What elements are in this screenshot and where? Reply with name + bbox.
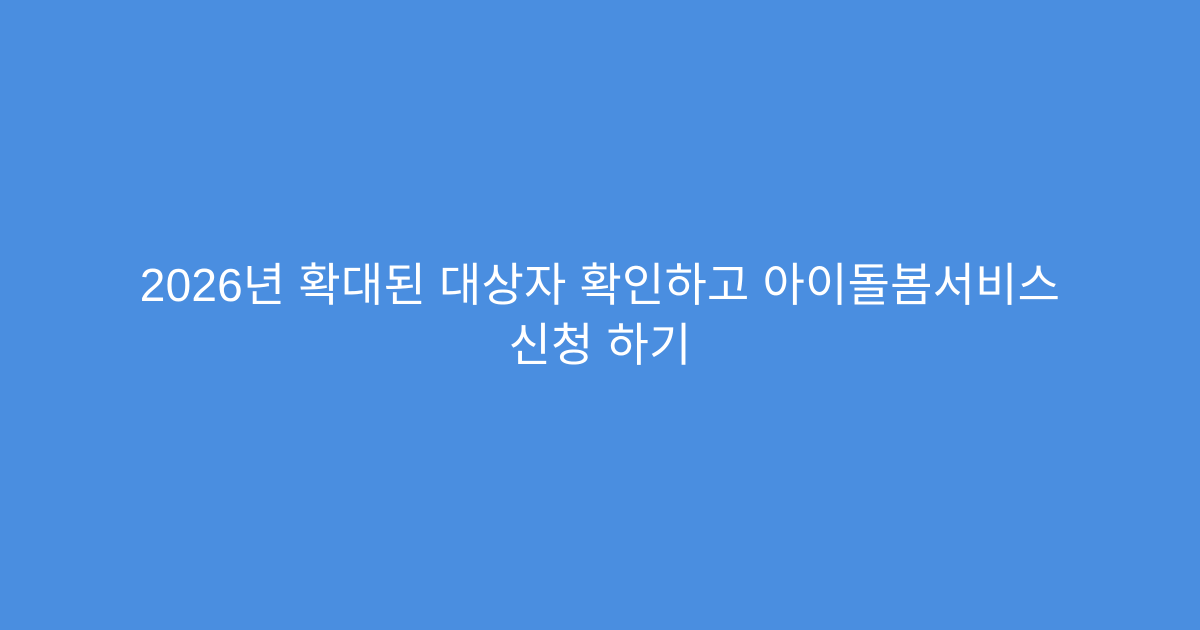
page-title-line-1: 2026년 확대된 대상자 확인하고 아이돌봄서비스 (80, 255, 1120, 315)
page-title-line-2: 신청 하기 (80, 315, 1120, 375)
og-card: 2026년 확대된 대상자 확인하고 아이돌봄서비스 신청 하기 (0, 0, 1200, 630)
page-title: 2026년 확대된 대상자 확인하고 아이돌봄서비스 신청 하기 (80, 255, 1120, 375)
